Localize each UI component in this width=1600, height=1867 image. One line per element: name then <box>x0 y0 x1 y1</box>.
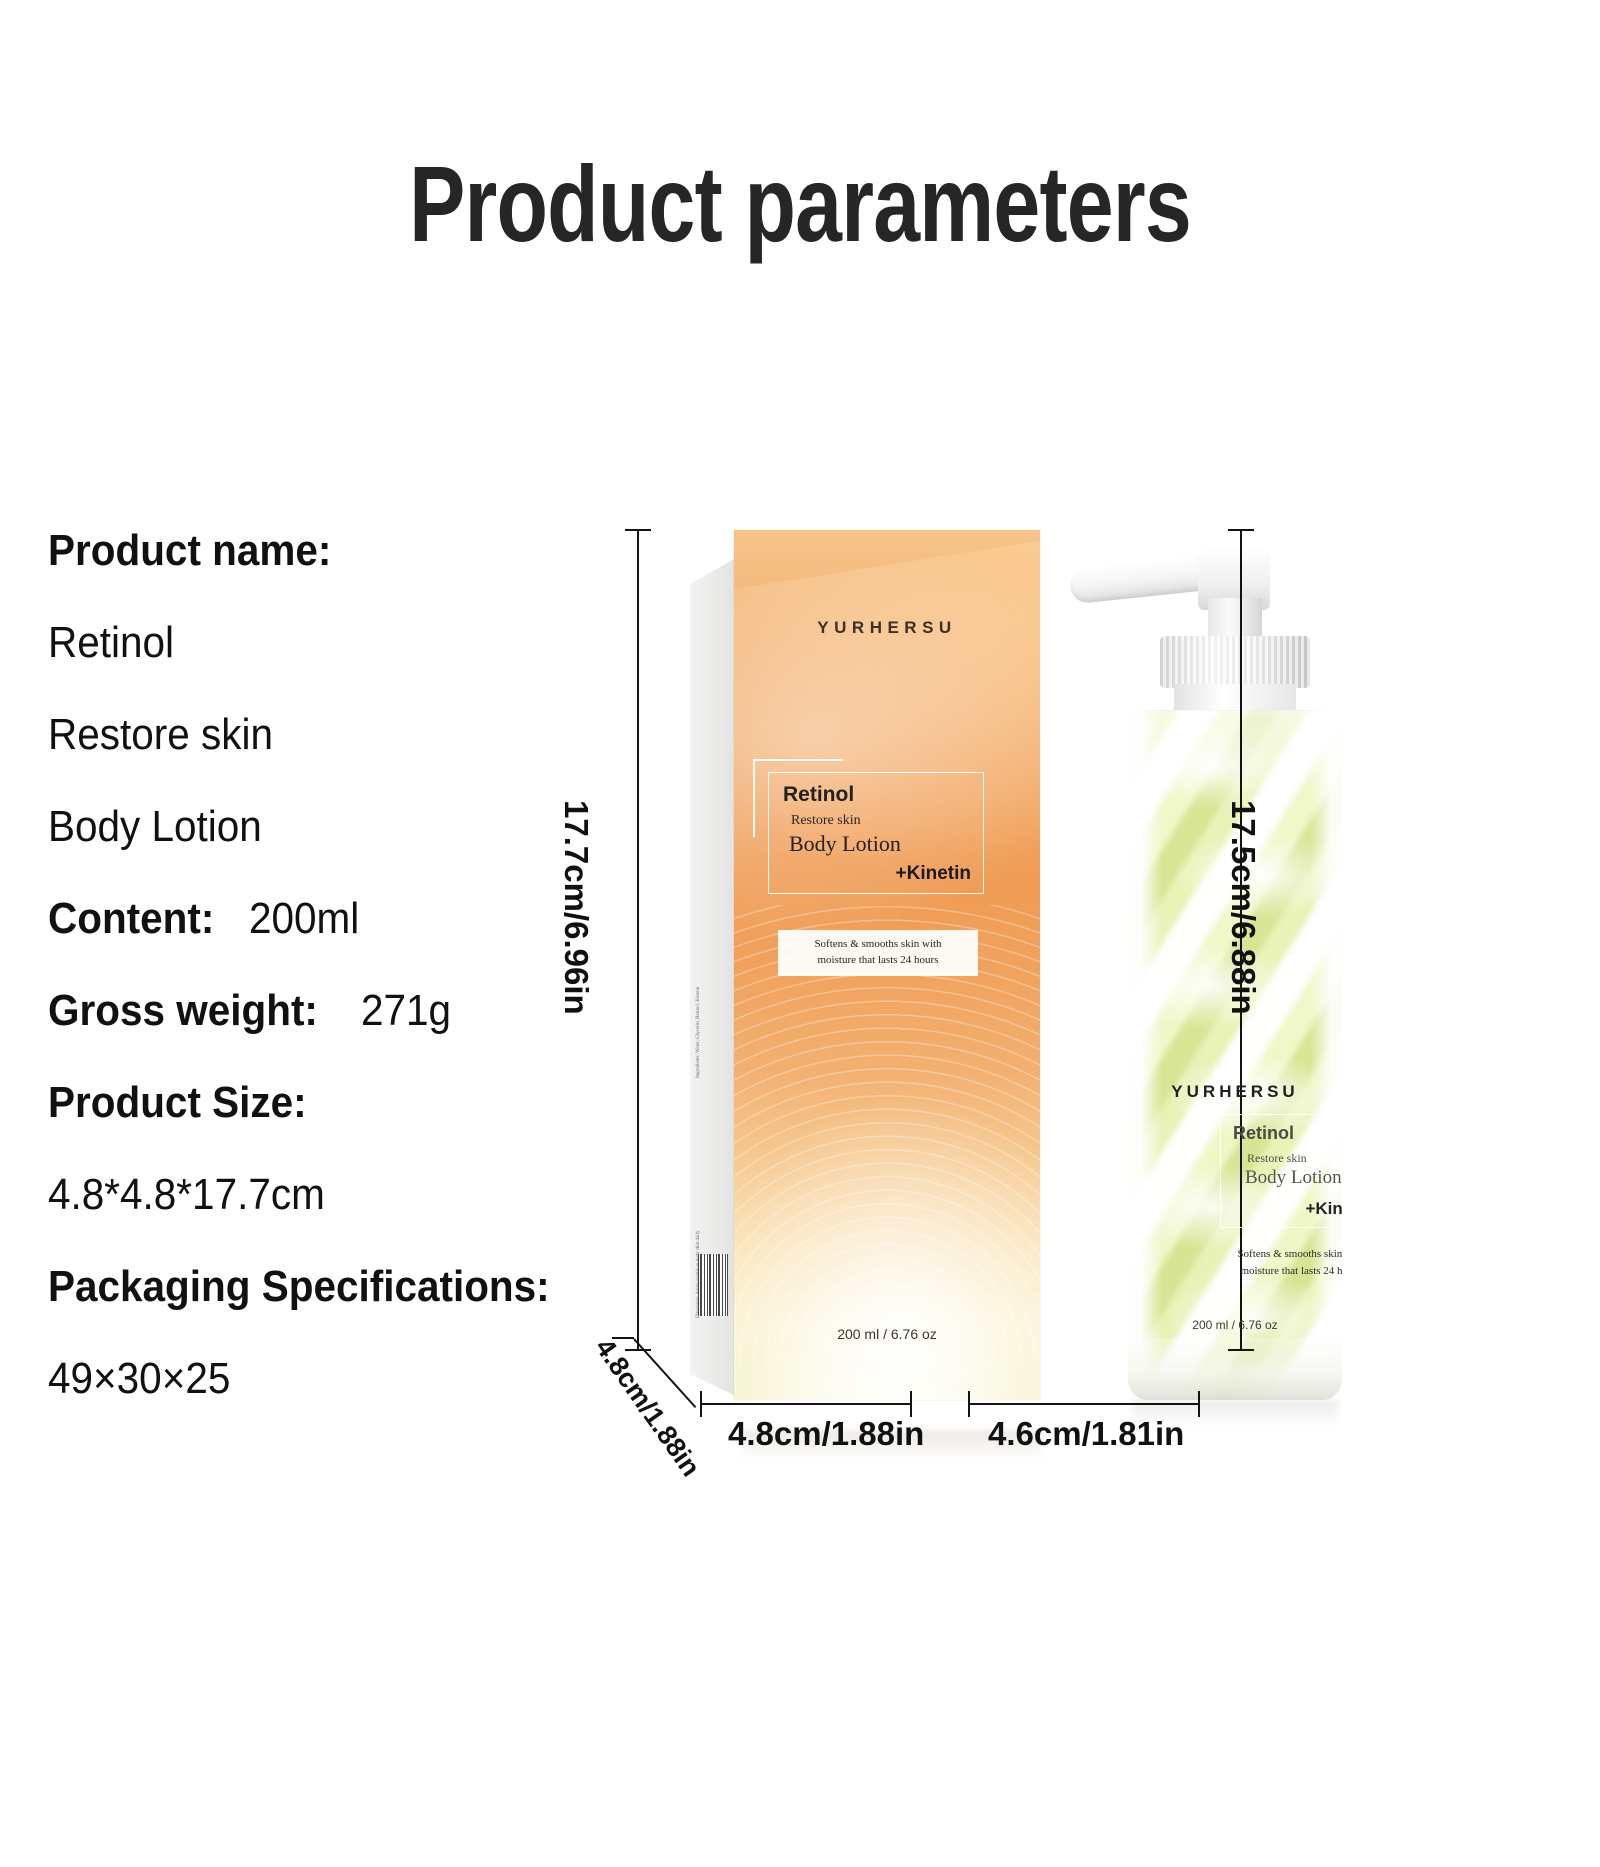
box-tagline: Softens & smooths skin with moisture tha… <box>778 930 978 976</box>
bottle-width-cap-right <box>1198 1391 1200 1417</box>
spec-row-retinol: Retinol <box>48 597 668 689</box>
spec-row-packaging-value: 49×30×25 <box>48 1333 668 1425</box>
spec-value: 200ml <box>249 894 359 944</box>
spec-label: Product Size: <box>48 1078 307 1128</box>
bottle-collar <box>1160 636 1310 688</box>
box-width-cap-right <box>910 1391 912 1417</box>
bottle-height-cap-bottom <box>1228 1349 1254 1351</box>
spec-row-restore-skin: Restore skin <box>48 689 668 781</box>
bottle-height-label: 17.5cm/6.88in <box>1224 800 1262 1015</box>
spec-value: 4.8*4.8*17.7cm <box>48 1170 325 1220</box>
box-tagline-line-2: moisture that lasts 24 hours <box>784 953 972 969</box>
bottle-tagline-line-2: moisture that lasts 24 hours <box>1210 1263 1342 1280</box>
box-label-ingredient: +Kinetin <box>896 863 971 885</box>
bottle-label-subtitle: Restore skin <box>1247 1151 1307 1166</box>
box-height-label: 17.7cm/6.96in <box>557 800 595 1015</box>
spec-row-product-size-value: 4.8*4.8*17.7cm <box>48 1149 668 1241</box>
bottle-width-label: 4.6cm/1.81in <box>988 1415 1184 1453</box>
spec-label: Gross weight: <box>48 986 318 1036</box>
bottle-label-frame: Retinol Restore skin Body Lotion +Kineti… <box>1220 1114 1342 1228</box>
box-tagline-line-1: Softens & smooths skin with <box>784 937 972 953</box>
spec-label: Packaging Specifications: <box>48 1262 550 1312</box>
barcode-icon <box>698 1254 728 1316</box>
box-front-panel: YURHERSU Retinol Restore skin Body Lotio… <box>734 530 1040 1400</box>
spec-row-product-size: Product Size: <box>48 1057 668 1149</box>
box-glow-decoration <box>737 1242 1037 1400</box>
box-side-ingredients-text: Ingredients: Water, Glycerin, Retinol, K… <box>696 908 703 1078</box>
box-label-type: Body Lotion <box>789 831 901 857</box>
spec-label: Content: <box>48 894 214 944</box>
bottle-label-ingredient: +Kinetin <box>1305 1199 1342 1219</box>
spec-row-packaging-specifications: Packaging Specifications: <box>48 1241 668 1333</box>
product-box: Ingredients: Water, Glycerin, Retinol, K… <box>690 530 1040 1400</box>
box-label-product: Retinol <box>783 783 854 807</box>
bottle-tagline: Softens & smooths skin with moisture tha… <box>1210 1246 1342 1279</box>
box-label-subtitle: Restore skin <box>791 813 861 829</box>
spec-value: Restore skin <box>48 710 273 760</box>
box-height-line <box>637 530 639 1350</box>
bottle-brand-name: YURHERSU <box>1128 1082 1342 1102</box>
bottle-label-type: Body Lotion <box>1245 1167 1342 1189</box>
bottle-width-line <box>968 1403 1200 1405</box>
box-brand-name: YURHERSU <box>734 618 1040 638</box>
bottle-bottom <box>1128 1338 1342 1400</box>
spec-value: 271g <box>361 986 451 1036</box>
spec-value: Body Lotion <box>48 802 262 852</box>
box-width-label: 4.8cm/1.88in <box>728 1415 924 1453</box>
page-title: Product parameters <box>176 150 1424 258</box>
spec-value: 49×30×25 <box>48 1354 230 1404</box>
spec-row-product-name: Product name: <box>48 505 668 597</box>
box-height-cap-bottom <box>625 1349 651 1351</box>
pump-stem <box>1208 598 1262 640</box>
box-volume-text: 200 ml / 6.76 oz <box>734 1326 1040 1342</box>
bottle-tagline-line-1: Softens & smooths skin with <box>1210 1246 1342 1263</box>
box-label-frame: Retinol Restore skin Body Lotion +Kineti… <box>768 772 984 894</box>
box-width-line <box>700 1403 912 1405</box>
spec-label: Product name: <box>48 526 331 576</box>
box-side-panel: Ingredients: Water, Glycerin, Retinol, K… <box>690 558 736 1396</box>
spec-value: Retinol <box>48 618 174 668</box>
bottle-label-product: Retinol <box>1233 1123 1294 1144</box>
bottle-volume-text: 200 ml / 6.76 oz <box>1128 1318 1342 1332</box>
